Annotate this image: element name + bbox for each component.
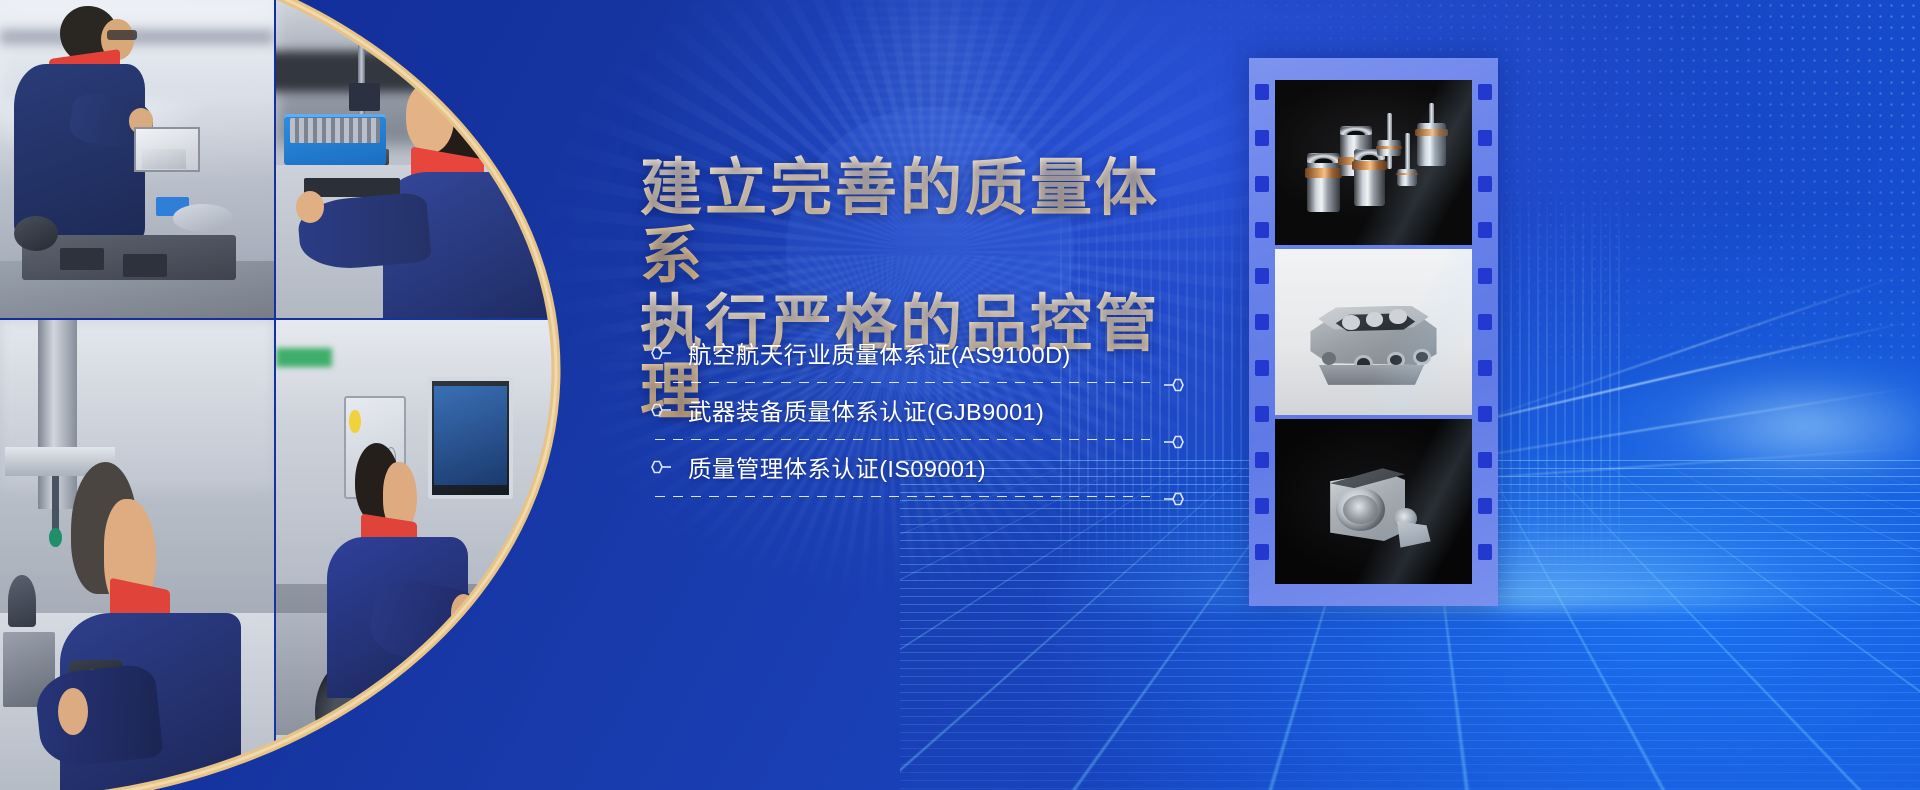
certification-item[interactable]: 武器装备质量体系认证(GJB9001) — [650, 387, 1195, 444]
certification-item[interactable]: 航空航天行业质量体系证(AS9100D) — [650, 330, 1195, 387]
certification-label: 质量管理体系认证(IS09001) — [688, 450, 986, 484]
product-filmstrip — [1249, 58, 1498, 606]
quality-system-banner: 建立完善的质量体系 执行严格的品控管理 航空航天行业质量体系证(AS9100D) — [0, 0, 1920, 790]
certification-item[interactable]: 质量管理体系认证(IS09001) — [650, 444, 1195, 501]
filmstrip-perforations-right — [1472, 58, 1498, 606]
certification-label: 武器装备质量体系认证(GJB9001) — [688, 393, 1044, 427]
filmstrip-perforations-left — [1249, 58, 1275, 606]
photo-collage — [0, 0, 600, 790]
product-frame-1[interactable] — [1275, 80, 1472, 245]
collage-photo-4 — [276, 320, 558, 790]
headline-line-1: 建立完善的质量体系 — [640, 155, 1200, 291]
dashed-divider — [655, 496, 1150, 497]
photo-collage-grid — [0, 0, 556, 790]
hex-node-icon — [650, 403, 672, 417]
product-frame-2[interactable] — [1275, 249, 1472, 414]
hex-node-icon — [1163, 492, 1185, 506]
certification-list: 航空航天行业质量体系证(AS9100D) 武器装备质量体系认证(GJB9001) — [650, 330, 1195, 501]
hex-node-icon — [650, 346, 672, 360]
hex-node-icon — [650, 460, 672, 474]
product-frame-3[interactable] — [1275, 419, 1472, 584]
dashed-divider — [655, 382, 1150, 383]
collage-photo-3 — [0, 320, 274, 790]
certification-label: 航空航天行业质量体系证(AS9100D) — [688, 336, 1071, 370]
collage-photo-1 — [0, 0, 274, 318]
dashed-divider — [655, 439, 1150, 440]
collage-photo-2 — [276, 0, 558, 318]
